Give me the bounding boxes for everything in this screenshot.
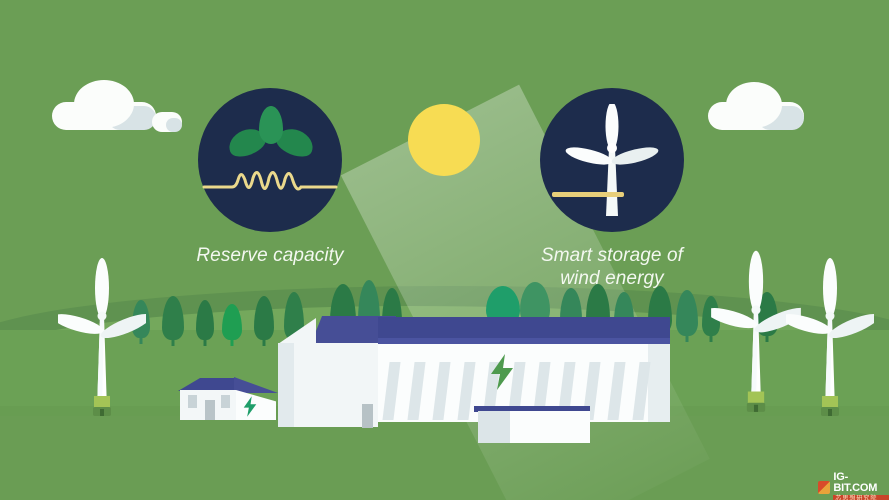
warehouse-side-door [362, 404, 373, 428]
tree-canopy [676, 290, 698, 336]
tree-trunk [231, 338, 234, 346]
gold-bar-icon [552, 192, 624, 197]
tree [222, 304, 242, 346]
watermark-main: IG-BIT.COM [833, 472, 889, 494]
tree-canopy [254, 296, 274, 340]
tree-canopy [162, 296, 184, 340]
cloud-small-icon [152, 112, 182, 132]
tree [254, 296, 274, 346]
wind-turbine-left [58, 252, 146, 420]
small-house [176, 372, 280, 424]
cloud-icon [708, 82, 804, 130]
tree-trunk [172, 338, 175, 346]
wind-turbine-icon [562, 104, 662, 220]
waveform-icon [202, 166, 338, 206]
tree-trunk [263, 338, 266, 346]
leaf-icon [259, 106, 283, 144]
turbine-graphic [58, 252, 146, 420]
tree-trunk [204, 338, 207, 346]
watermark-sub: 芯思想研究院 [833, 495, 889, 500]
watermark-text: IG-BIT.COM 芯思想研究院 [833, 472, 889, 500]
tree [196, 300, 214, 346]
turbine-graphic [786, 252, 874, 420]
warehouse-right-shade [648, 344, 670, 422]
cloud-icon [52, 80, 156, 130]
cloud-shade [166, 118, 182, 132]
tree [676, 290, 698, 342]
badge-caption: Smart storage of wind energy [482, 244, 742, 290]
watermark: IG-BIT.COM 芯思想研究院 [818, 472, 889, 500]
badge-disc [540, 88, 684, 232]
tree [162, 296, 184, 346]
house-door [205, 400, 215, 420]
lightning-bolt-icon [242, 396, 258, 422]
warehouse-left-wall-shade [278, 343, 294, 427]
warehouse-gable [278, 318, 316, 344]
cloud-puff [726, 82, 782, 128]
lightning-bolt-icon [488, 354, 516, 395]
ig-bit-logo-icon [818, 481, 830, 494]
illustration-scene: Reserve capacity Smart storage of wind e… [0, 0, 889, 500]
tree-trunk [686, 334, 689, 342]
tree-canopy [196, 300, 214, 340]
house-window [188, 395, 197, 408]
badge-caption: Reserve capacity [140, 244, 400, 267]
warehouse-annex-shade [478, 411, 510, 443]
tree-canopy [222, 304, 242, 340]
house-window [221, 395, 230, 408]
wind-turbine-right-far [786, 252, 874, 420]
house-roof-right [234, 377, 278, 393]
badge-disc [198, 88, 342, 232]
battery-storage-warehouse [278, 310, 670, 440]
cloud-puff [74, 80, 134, 128]
sun-icon [408, 104, 480, 176]
